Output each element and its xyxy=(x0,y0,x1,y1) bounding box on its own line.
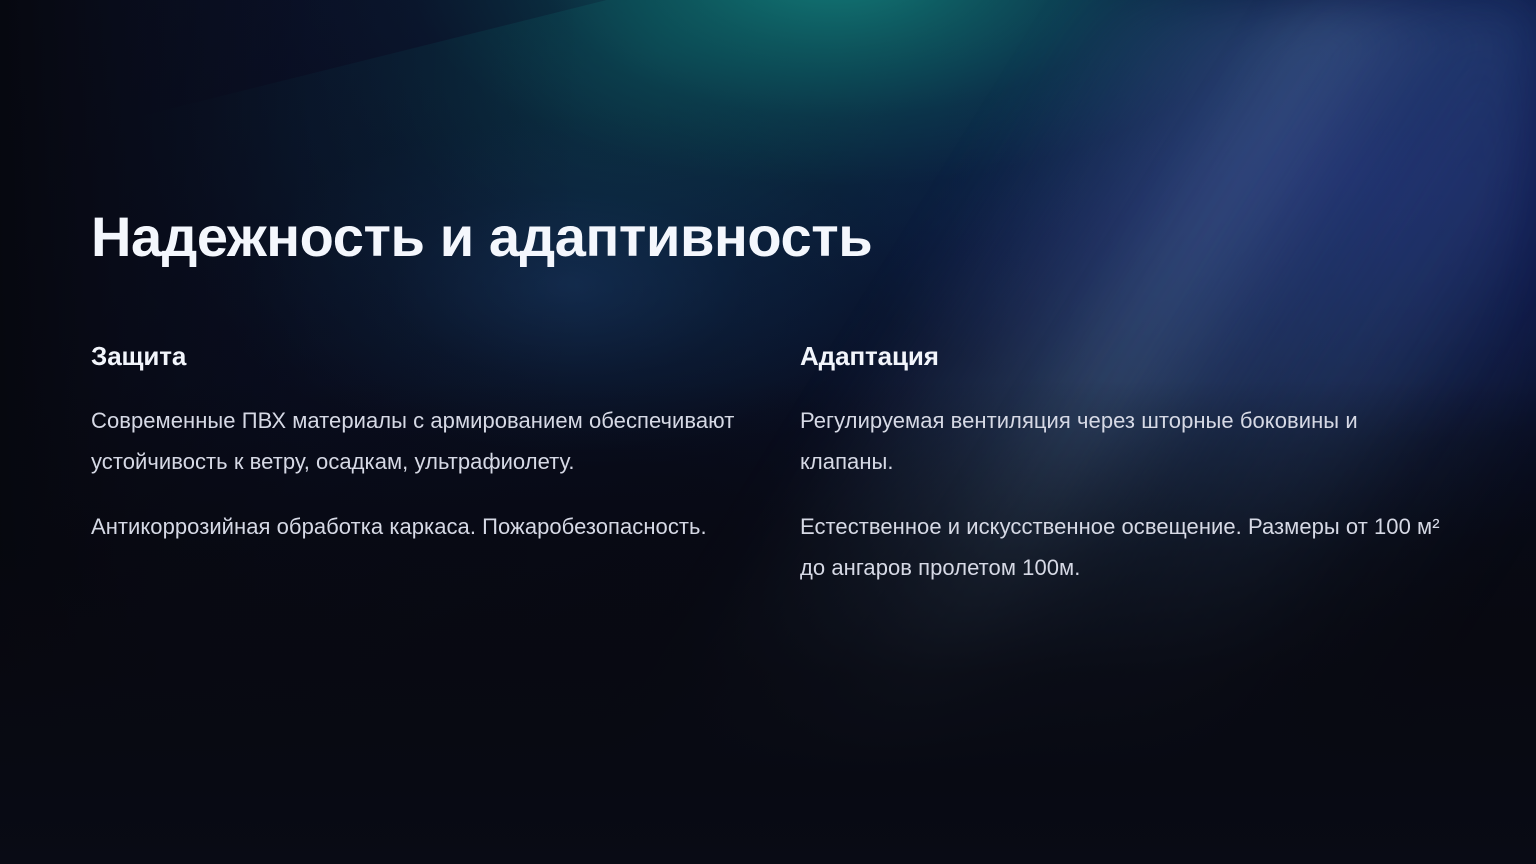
page-title: Надежность и адаптивность xyxy=(91,206,872,269)
column-body-adaptation: Регулируемая вентиляция через шторные бо… xyxy=(800,400,1445,588)
column-protection: Защита Современные ПВХ материалы с армир… xyxy=(91,340,800,588)
paragraph-protection-materials: Современные ПВХ материалы с армированием… xyxy=(91,400,736,482)
content-columns: Защита Современные ПВХ материалы с армир… xyxy=(91,340,1451,588)
paragraph-protection-treatment: Антикоррозийная обработка каркаса. Пожар… xyxy=(91,506,736,547)
paragraph-adaptation-ventilation: Регулируемая вентиляция через шторные бо… xyxy=(800,400,1440,482)
column-heading-adaptation: Адаптация xyxy=(800,340,1451,373)
paragraph-adaptation-lighting-size: Естественное и искусственное освещение. … xyxy=(800,506,1440,588)
column-body-protection: Современные ПВХ материалы с армированием… xyxy=(91,400,736,547)
column-heading-protection: Защита xyxy=(91,340,800,373)
column-adaptation: Адаптация Регулируемая вентиляция через … xyxy=(800,340,1451,588)
slide-content: Надежность и адаптивность Защита Совреме… xyxy=(0,0,1536,864)
presentation-slide: Надежность и адаптивность Защита Совреме… xyxy=(0,0,1536,864)
